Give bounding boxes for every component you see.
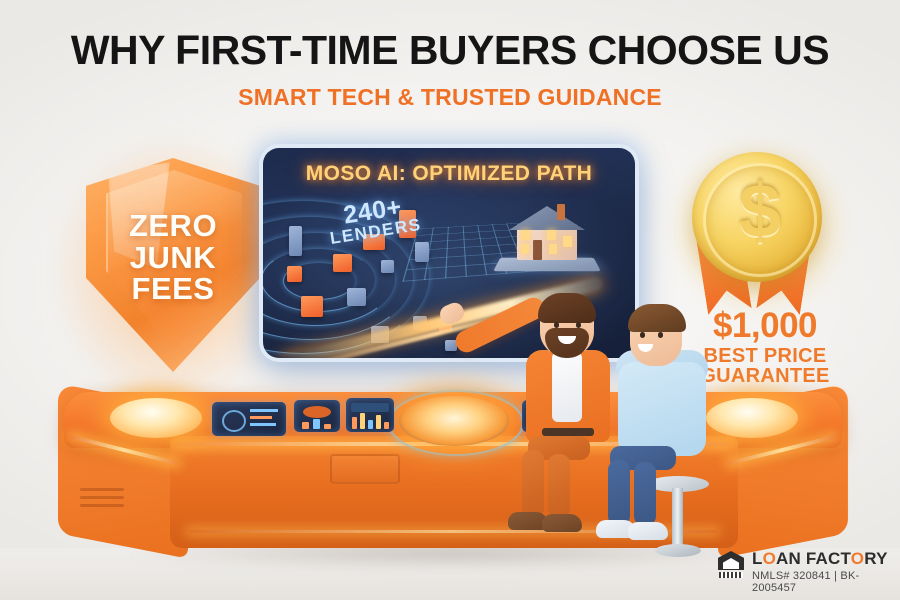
page-subtitle: SMART TECH & TRUSTED GUIDANCE: [0, 86, 900, 109]
house-window: [521, 230, 530, 240]
house-roof: [509, 206, 585, 230]
client-hair: [628, 304, 686, 332]
lender-cube: [415, 242, 429, 262]
lender-cube: [347, 288, 366, 306]
advisor-shin: [548, 454, 570, 518]
client-shin: [634, 462, 656, 526]
house-window: [547, 230, 556, 240]
marketing-graphic: WHY FIRST-TIME BUYERS CHOOSE US SMART TE…: [0, 0, 900, 600]
client-character: [604, 306, 734, 556]
client-shin: [608, 460, 630, 526]
footer-branding: LOAN FACTORY NMLS# 320841 | BK-2005457: [718, 549, 888, 593]
advisor-belt: [542, 428, 594, 436]
client-hoodie: [618, 362, 706, 456]
license-numbers: NMLS# 320841 | BK-2005457: [752, 570, 888, 594]
advisor-shirt: [552, 352, 582, 422]
brand-name: LOAN FACTORY: [752, 549, 888, 569]
price-guarantee-badge: $: [680, 148, 840, 308]
equal-housing-lender-icon: [718, 551, 744, 577]
shield-badge-text: ZERO JUNK FEES: [78, 210, 268, 305]
panel-dial-left[interactable]: [294, 400, 340, 432]
shield-line-3: FEES: [78, 273, 268, 305]
client-eye: [640, 332, 645, 338]
brand-part-1: L: [752, 549, 763, 568]
desk-drawer: [330, 454, 400, 484]
brand-part-2: AN FACT: [776, 549, 851, 568]
shield-line-1: ZERO: [78, 210, 268, 242]
lender-cube: [301, 296, 323, 317]
advisor-hair: [538, 293, 596, 323]
house-icon: [495, 196, 599, 288]
ehl-stripes: [719, 572, 743, 578]
panel-gauge-left[interactable]: [212, 402, 286, 436]
house-door: [533, 240, 542, 260]
lender-cube: [287, 266, 302, 282]
page-title: WHY FIRST-TIME BUYERS CHOOSE US: [0, 30, 900, 71]
desk-vent: [80, 504, 124, 507]
client-sneaker: [628, 522, 668, 540]
lender-cube: [381, 260, 394, 273]
advisor-eye: [554, 322, 559, 328]
advisor-shoe: [542, 514, 582, 532]
house-window: [563, 236, 572, 247]
advisor-eye: [576, 322, 581, 328]
house-chimney: [557, 204, 565, 220]
desk-vent: [80, 496, 124, 499]
advisor-shin: [522, 450, 544, 518]
house-window: [521, 244, 529, 254]
screen-title: MOSO AI: OPTIMIZED PATH: [263, 162, 635, 186]
brand-o-accent: O: [763, 549, 776, 568]
shield-line-2: JUNK: [78, 242, 268, 274]
house-window: [549, 244, 557, 254]
central-hub-icon: [399, 396, 509, 446]
desk-vent: [80, 488, 124, 491]
panel-chart-center-left[interactable]: [346, 398, 394, 432]
dollar-symbol: $: [680, 174, 840, 250]
zero-junk-fees-badge: ZERO JUNK FEES: [78, 158, 268, 383]
brand-part-3: RY: [864, 549, 887, 568]
client-eye: [658, 332, 663, 338]
glowing-dome-icon: [110, 398, 202, 438]
brand-o-accent: O: [851, 549, 864, 568]
lender-cube: [333, 254, 352, 272]
